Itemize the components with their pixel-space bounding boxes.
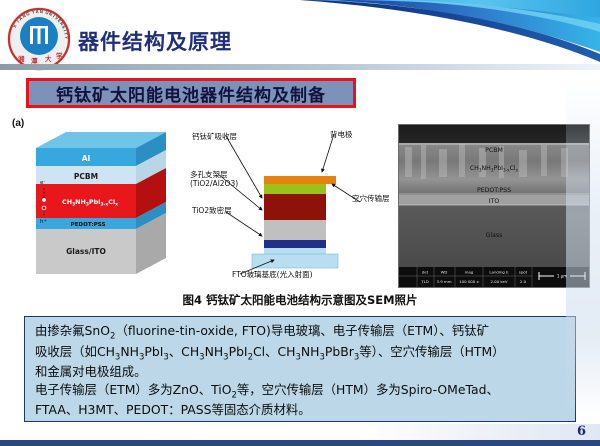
layer-label-pedot: PEDOT:PSS bbox=[71, 222, 106, 228]
sem-det-value: TLD bbox=[420, 279, 429, 284]
footer-bar bbox=[0, 440, 600, 446]
university-logo: 湘 潭 大 学 X I A N G T A N U N I V E R S I … bbox=[6, 6, 72, 72]
layer-label-glass-ito: Glass/ITO bbox=[66, 247, 106, 256]
sem-mag-value: 100 000 x bbox=[459, 279, 479, 284]
body-line-3: 和金属对电极组成。 bbox=[35, 363, 567, 381]
sem-label-pcbm: PCBM bbox=[485, 147, 503, 154]
footer-wash bbox=[0, 424, 600, 440]
slide: 湘 潭 大 学 X I A N G T A N U N I V E R S I … bbox=[0, 0, 600, 446]
sem-energy-header: Landing E bbox=[489, 270, 509, 275]
body-line-4: 电子传输层（ETM）多为ZnO、TiO2等，空穴传输层（HTM）多为Spiro-… bbox=[35, 381, 567, 402]
sem-wd-header: WD bbox=[441, 270, 448, 275]
layer-label-al: Al bbox=[82, 154, 90, 163]
sem-image: PCBM CH3NH3PbI3-xClx PEDOT:PSS ITO Glass bbox=[398, 124, 590, 288]
svg-text:Y: Y bbox=[64, 36, 69, 39]
layer-label-pcbm: PCBM bbox=[74, 172, 98, 181]
body-line-1: 由掺杂氟SnO2（fluorine-tin-oxide, FTO)导电玻璃、电子… bbox=[35, 322, 567, 343]
schematic-stack bbox=[252, 176, 338, 268]
svg-text:大: 大 bbox=[45, 54, 52, 63]
figure-area: (a) Al PCBM bbox=[0, 114, 600, 294]
stack-side-faces bbox=[136, 132, 166, 274]
label-dense-tio2: TiO2致密层 bbox=[192, 206, 232, 215]
header-swoosh-decoration bbox=[240, 0, 600, 72]
page-number: 6 bbox=[577, 424, 586, 439]
label-hole-transport: 空穴传输层 bbox=[352, 194, 390, 203]
sem-mag-header: mag bbox=[465, 270, 474, 275]
svg-text:湘: 湘 bbox=[18, 54, 25, 63]
label-scaffold-line1: 多孔支架层 bbox=[190, 170, 228, 179]
sem-energy-value: 2.00 keV bbox=[490, 279, 507, 284]
sem-scale-label: 1 µm bbox=[557, 274, 567, 279]
electron-dot bbox=[42, 198, 46, 202]
device-3d-diagram: Al PCBM CH3NH3PbI3-xClx PEDOT:PSS Glass/… bbox=[18, 130, 170, 278]
subtitle-text: 钙钛矿太阳能电池器件结构及制备 bbox=[56, 81, 326, 106]
sem-label-pedot: PEDOT:PSS bbox=[477, 187, 511, 194]
sem-spot-header: spot bbox=[519, 270, 528, 275]
svg-text:N: N bbox=[40, 9, 43, 14]
sem-label-glass: Glass bbox=[486, 232, 503, 239]
figure-caption: 图4 钙钛矿太阳能电池结构示意图及SEM照片 bbox=[0, 292, 600, 308]
sem-label-ito: ITO bbox=[489, 198, 500, 205]
svg-text:学: 学 bbox=[56, 51, 63, 60]
label-porous-scaffold: 多孔支架层 (TiO2/Al2O3) bbox=[190, 170, 238, 189]
panel-label-a: (a) bbox=[12, 118, 24, 129]
subtitle-box: 钙钛矿太阳能电池器件结构及制备 bbox=[26, 78, 356, 108]
label-perovskite-absorber: 钙钛矿吸收层 bbox=[192, 132, 237, 141]
sem-det-header: det bbox=[422, 270, 429, 275]
svg-text:A: A bbox=[35, 9, 38, 14]
label-fto-substrate: FTO玻璃基底(光入射面) bbox=[232, 270, 313, 279]
body-line-5: FTAA、H3MT、PEDOT：PASS等固态介质材料。 bbox=[35, 401, 567, 419]
label-scaffold-line2: (TiO2/Al2O3) bbox=[190, 179, 238, 188]
sem-wd-value: 3.9 mm bbox=[436, 279, 451, 284]
page-title: 器件结构及原理 bbox=[78, 26, 232, 56]
sem-cross-section: PCBM CH3NH3PbI3-xClx PEDOT:PSS ITO Glass bbox=[399, 125, 589, 287]
sem-label-perovskite: CH3NH3PbI3-xClx bbox=[470, 165, 519, 172]
body-textbox: 由掺杂氟SnO2（fluorine-tin-oxide, FTO)导电玻璃、电子… bbox=[24, 316, 576, 422]
sem-spot-value: 2.0 bbox=[520, 279, 527, 284]
header-divider bbox=[0, 64, 600, 70]
body-line-2: 吸收层（如CH3NH3PbI3、CH3NH3PbI2Cl、CH3NH3PbBr3… bbox=[35, 343, 567, 364]
label-back-electrode: 背电极 bbox=[330, 130, 353, 139]
